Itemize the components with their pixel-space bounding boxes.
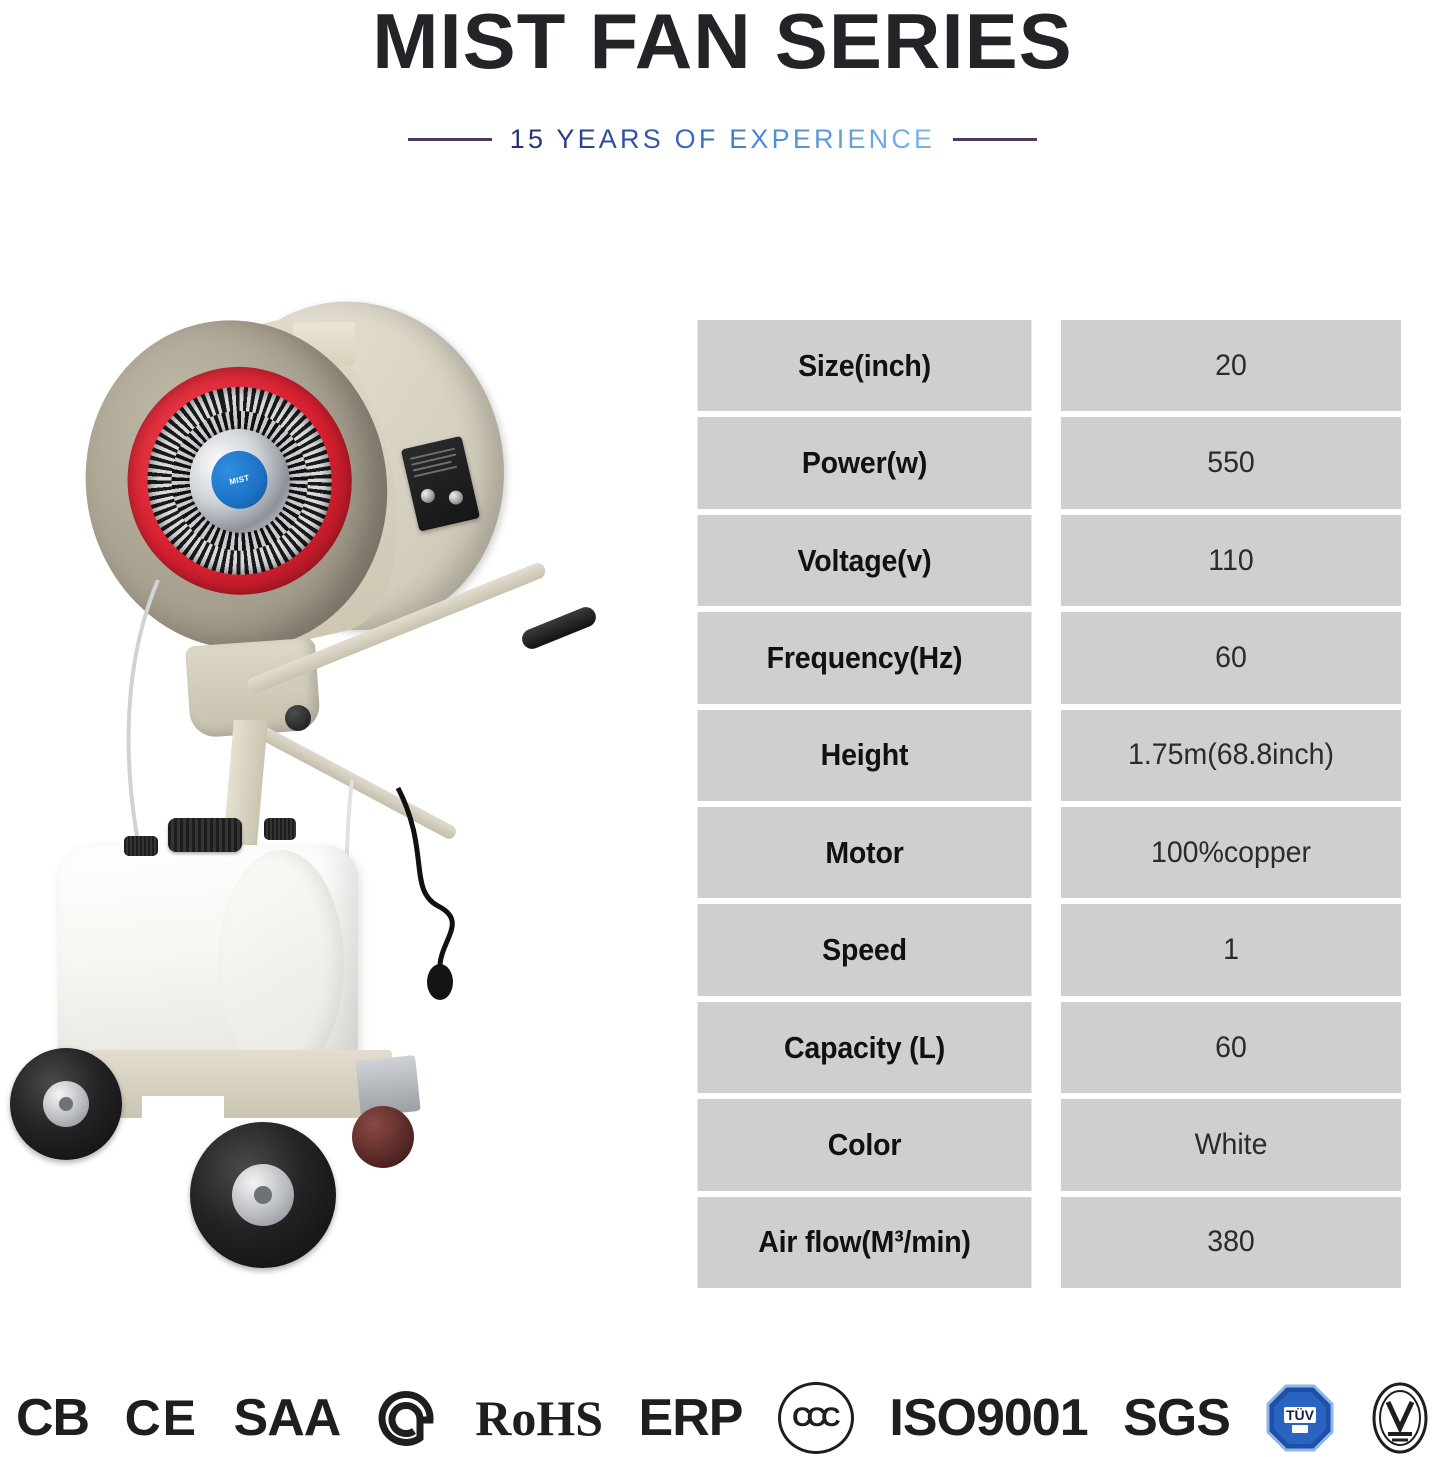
table-row: Voltage(v)110	[683, 515, 1410, 606]
table-row: Capacity (L)60	[683, 1002, 1410, 1093]
spec-label: Air flow(M³/min)	[698, 1197, 1032, 1288]
cert-iso9001-label: ISO9001	[889, 1388, 1087, 1448]
certification-bar: CB CE SAA RoHS ERP CCC ISO9001 SGS TÜV	[0, 1378, 1445, 1457]
spec-label: Color	[698, 1099, 1032, 1190]
tank-fill-cap[interactable]	[168, 818, 242, 852]
cert-tuv-icon: TÜV	[1265, 1383, 1335, 1453]
cert-rohs-label: RoHS	[475, 1389, 603, 1447]
cert-erp-label: ERP	[639, 1388, 743, 1448]
tuv-octagon-icon: TÜV	[1265, 1383, 1335, 1453]
table-row: Size(inch)20	[683, 320, 1410, 411]
cert-erp: ERP	[639, 1388, 743, 1448]
g-mark-icon	[376, 1386, 440, 1450]
power-plug	[427, 964, 453, 1000]
cert-ccc-label: CCC	[792, 1402, 836, 1433]
table-row: Frequency(Hz)60	[683, 612, 1410, 703]
subtitle-dash-left	[408, 138, 492, 141]
spec-value: 20	[1061, 320, 1401, 411]
water-tank-end-cap	[218, 850, 344, 1078]
spec-value: 550	[1061, 417, 1401, 508]
cert-gmark-icon	[376, 1386, 440, 1450]
table-row: Air flow(M³/min)380	[683, 1197, 1410, 1288]
water-hose	[129, 580, 158, 880]
cert-saa-label: SAA	[234, 1388, 341, 1448]
vde-oval-seal-icon	[1371, 1382, 1429, 1454]
table-row: Speed1	[683, 904, 1410, 995]
spec-value: 110	[1061, 515, 1401, 606]
cert-cb-label: CB	[16, 1388, 89, 1448]
spec-label: Size(inch)	[698, 320, 1032, 411]
page-title: MIST FAN SERIES	[0, 0, 1445, 87]
cert-vde-icon	[1371, 1382, 1429, 1454]
table-row: Motor100%copper	[683, 807, 1410, 898]
product-image: MIST	[0, 250, 660, 1330]
power-cable	[398, 788, 452, 970]
rear-wheel-left	[10, 1048, 122, 1160]
cert-ccc-icon: CCC	[778, 1382, 854, 1454]
spec-value: 1.75m(68.8inch)	[1061, 710, 1401, 801]
spec-value: 60	[1061, 612, 1401, 703]
spec-label: Frequency(Hz)	[698, 612, 1032, 703]
spec-value: 1	[1061, 904, 1401, 995]
spec-label: Speed	[698, 904, 1032, 995]
front-caster-wheel	[352, 1106, 414, 1168]
cert-sgs: SGS	[1123, 1388, 1230, 1448]
spec-value: 100%copper	[1061, 807, 1401, 898]
chassis-cutout	[142, 1096, 224, 1144]
spec-value: 60	[1061, 1002, 1401, 1093]
mist-switch-knob[interactable]	[448, 489, 465, 506]
header-banner: MIST FAN SERIES 15 YEARS OF EXPERIENCE	[0, 0, 1445, 190]
subtitle-text: 15 YEARS OF EXPERIENCE	[510, 124, 936, 155]
cert-iso9001: ISO9001	[889, 1388, 1087, 1448]
svg-text:TÜV: TÜV	[1286, 1407, 1315, 1423]
spec-label: Motor	[698, 807, 1032, 898]
tank-vent-cap-right[interactable]	[264, 818, 296, 840]
spec-label: Capacity (L)	[698, 1002, 1032, 1093]
table-row: Power(w)550	[683, 417, 1410, 508]
table-row: Height1.75m(68.8inch)	[683, 710, 1410, 801]
fan-switch-knob[interactable]	[419, 487, 436, 504]
spec-label: Power(w)	[698, 417, 1032, 508]
tank-vent-cap-left[interactable]	[124, 836, 158, 856]
spec-label: Height	[698, 710, 1032, 801]
subtitle-row: 15 YEARS OF EXPERIENCE	[0, 124, 1445, 155]
cert-ce-label: CE	[125, 1389, 198, 1447]
table-row: ColorWhite	[683, 1099, 1410, 1190]
spec-label: Voltage(v)	[698, 515, 1032, 606]
wheel-hub	[59, 1097, 73, 1111]
specification-table: Size(inch)20Power(w)550Voltage(v)110Freq…	[683, 320, 1410, 1288]
wheel-hub	[254, 1186, 272, 1204]
cert-cb: CB	[16, 1388, 89, 1448]
spec-value: White	[1061, 1099, 1401, 1190]
rear-wheel-right	[190, 1122, 336, 1268]
cert-saa: SAA	[234, 1388, 341, 1448]
subtitle-dash-right	[953, 138, 1037, 141]
cert-ce: CE	[125, 1389, 198, 1447]
spec-value: 380	[1061, 1197, 1401, 1288]
cert-sgs-label: SGS	[1123, 1388, 1230, 1448]
cert-rohs: RoHS	[475, 1389, 603, 1447]
